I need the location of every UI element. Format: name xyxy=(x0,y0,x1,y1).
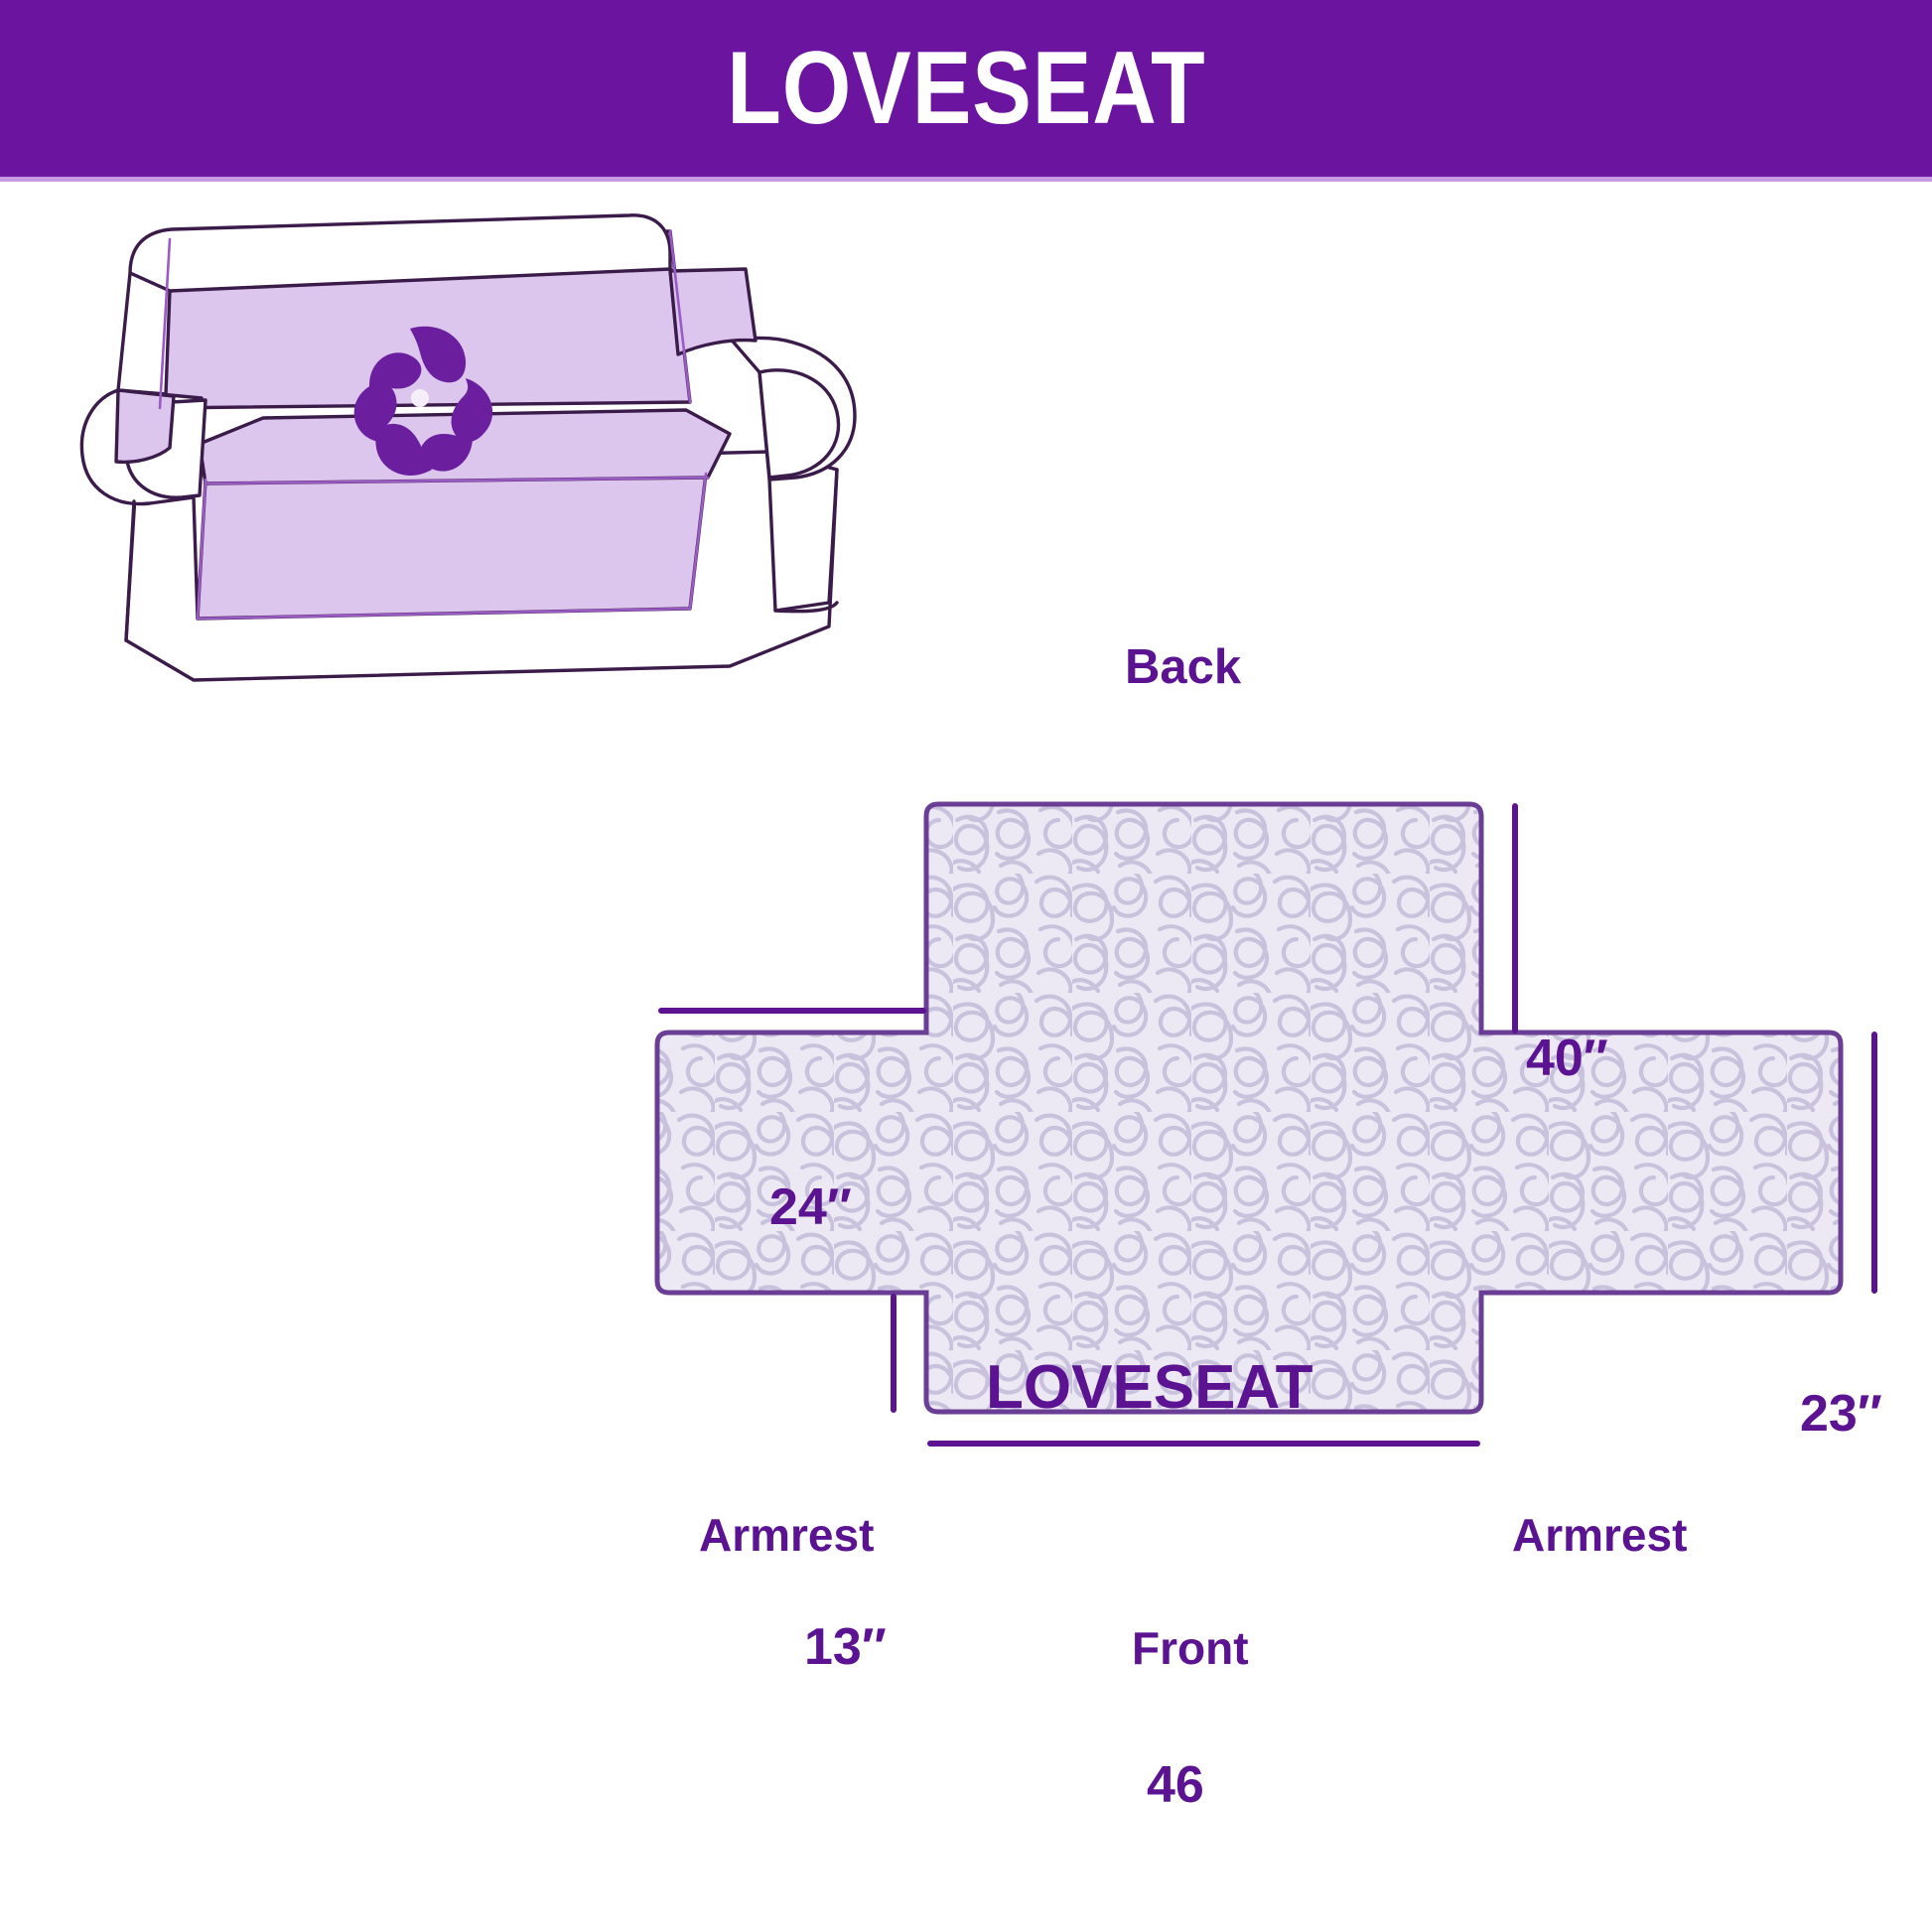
slipcover-cross-outline xyxy=(657,804,1841,1412)
panel-label-armrest-left: Armrest xyxy=(699,1512,874,1558)
dimension-label-total-width: 46 xyxy=(1147,1759,1204,1811)
loveseat-sofa-illustration: .so { fill:none; stroke:#3B1B4A; stroke-… xyxy=(74,213,948,710)
product-dimension-infographic: LOVESEAT .so { fill:none; stroke:#3B1B4A… xyxy=(0,0,1932,1932)
panel-label-back: Back xyxy=(1125,643,1241,692)
dimension-label-back-height: 40″ xyxy=(1526,1033,1608,1084)
page-title: LOVESEAT xyxy=(727,37,1205,140)
header-underline-divider xyxy=(0,177,1932,182)
panel-label-front: Front xyxy=(1132,1625,1249,1671)
dimension-label-back-width: 24″ xyxy=(769,1181,852,1233)
panel-label-armrest-right: Armrest xyxy=(1512,1512,1687,1558)
header-banner: LOVESEAT xyxy=(0,0,1932,177)
panel-label-center-loveseat: LOVESEAT xyxy=(986,1357,1313,1419)
dimension-label-armrest-height: 23″ xyxy=(1800,1388,1882,1440)
slipcover-flat-layout-diagram xyxy=(596,755,1932,1807)
dimension-label-front-height: 13″ xyxy=(804,1621,887,1673)
